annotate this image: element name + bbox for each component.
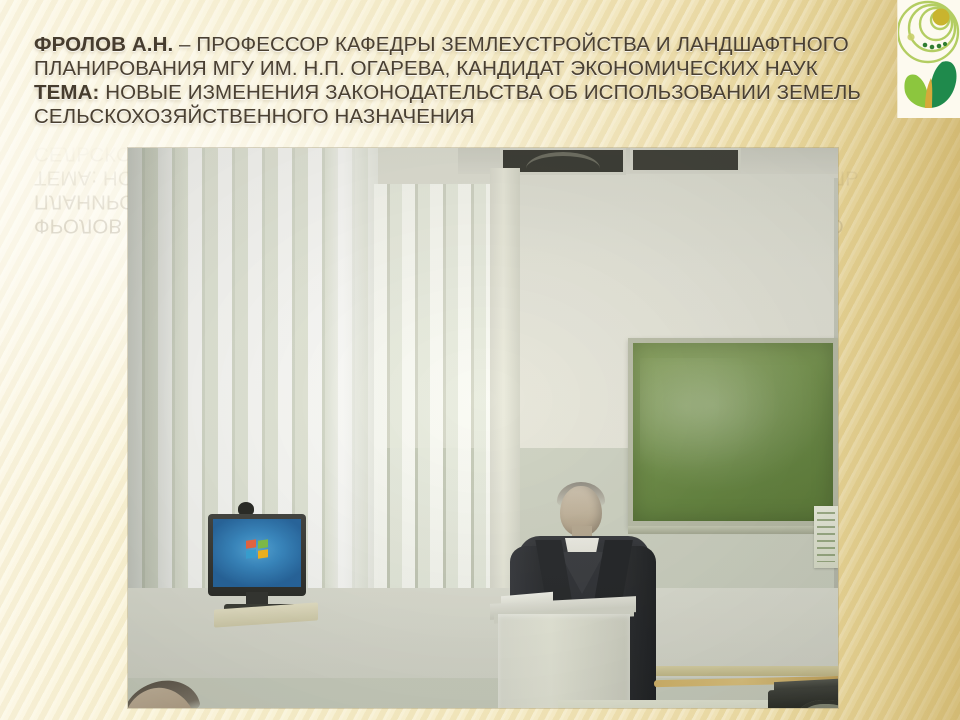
title-line-3: ТЕМА: НОВЫЕ ИЗМЕНЕНИЯ ЗАКОНОДАТЕЛЬСТВА О… xyxy=(34,82,894,104)
logo-plate xyxy=(898,0,960,118)
title-line-2: ПЛАНИРОВАНИЯ МГУ ИМ. Н.П. ОГАРЕВА, КАНДИ… xyxy=(34,58,894,80)
presentation-slide: ФРОЛОВ А.Н. – ПРОФЕССОР КАФЕДРЫ ЗЕМЛЕУСТ… xyxy=(0,0,960,720)
title-line-3-rest: НОВЫЕ ИЗМЕНЕНИЯ ЗАКОНОДАТЕЛЬСТВА ОБ ИСПО… xyxy=(99,81,861,104)
vertical-blinds-second-panel xyxy=(374,184,496,614)
windows-logo-quadrant-yellow xyxy=(258,549,268,558)
windows-logo-quadrant-blue xyxy=(246,549,256,558)
podium-body xyxy=(498,614,630,708)
windows-logo-icon xyxy=(246,540,270,560)
title-line-1: ФРОЛОВ А.Н. – ПРОФЕССОР КАФЕДРЫ ЗЕМЛЕУСТ… xyxy=(34,34,894,56)
wall-pilaster xyxy=(490,168,520,608)
lower-wall xyxy=(128,588,838,678)
sun-disc xyxy=(933,9,950,26)
wall-poster-text-lines xyxy=(817,512,835,562)
topic-label: ТЕМА: xyxy=(34,81,99,104)
blinds-left-shadow xyxy=(128,148,190,618)
lecture-hall-photograph xyxy=(128,148,838,708)
chalkboard-smudge xyxy=(640,358,790,478)
speaker-name: ФРОЛОВ А.Н. xyxy=(34,33,173,56)
chalkboard-ledge xyxy=(628,526,838,534)
ceiling-hatch-opening-2 xyxy=(633,150,738,170)
blinds-bright-column xyxy=(324,148,378,618)
slide-title: ФРОЛОВ А.Н. – ПРОФЕССОР КАФЕДРЫ ЗЕМЛЕУСТ… xyxy=(34,34,894,131)
windows-logo-quadrant-green xyxy=(258,539,268,548)
plant-sprout-logo xyxy=(898,0,960,118)
leaf-right xyxy=(929,61,956,108)
title-line-4: СЕЛЬСКОХОЗЯЙСТВЕННОГО НАЗНАЧЕНИЯ xyxy=(34,106,894,128)
windows-logo-quadrant-red xyxy=(246,539,256,548)
sun-small-dot xyxy=(907,33,914,40)
title-line-1-rest: – ПРОФЕССОР КАФЕДРЫ ЗЕМЛЕУСТРОЙСТВА И ЛА… xyxy=(173,33,849,56)
